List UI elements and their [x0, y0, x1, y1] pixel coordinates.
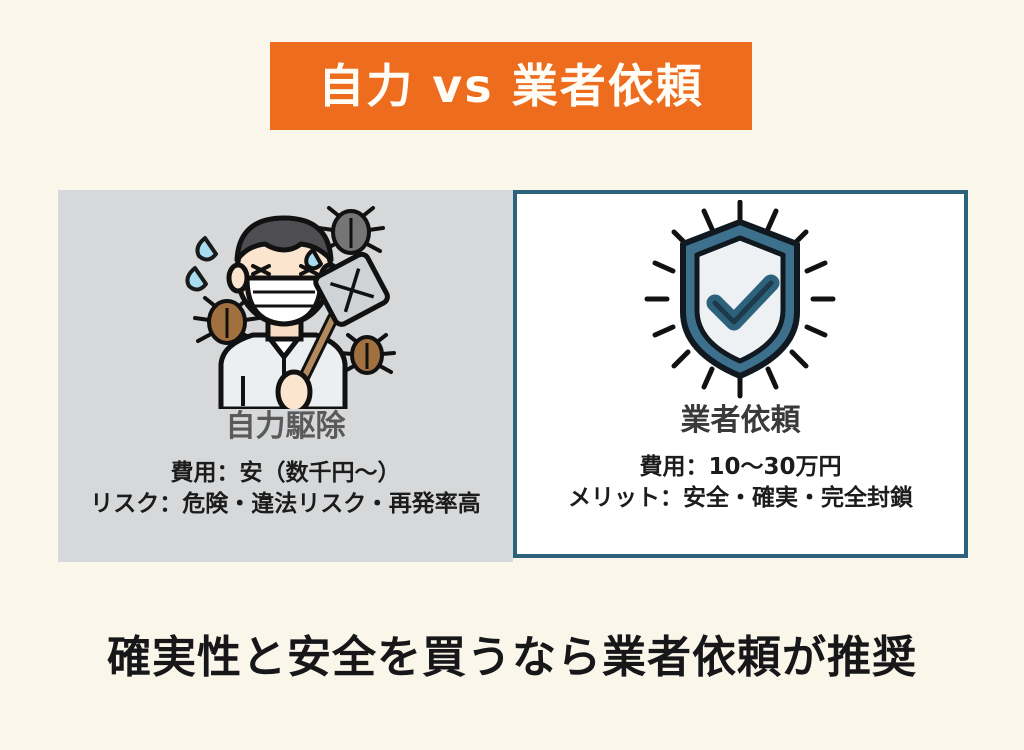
diy-risk-line: リスク：危険・違法リスク・再発率高 [90, 489, 481, 520]
comparison-card-diy: 自力駆除 費用：安（数千円〜） リスク：危険・違法リスク・再発率高 [58, 190, 513, 562]
diy-title: 自力駆除 [226, 412, 346, 442]
worried-person-with-mask-and-fly-swatter-icon [161, 194, 411, 409]
professional-title: 業者依頼 [681, 406, 801, 436]
diy-cost-line: 費用：安（数千円〜） [171, 458, 401, 489]
professional-cost-line: 費用：10〜30万円 [639, 452, 841, 483]
shield-check-icon [633, 200, 848, 400]
summary-caption-text: 確実性と安全を買うなら業者依頼が推奨 [107, 632, 917, 683]
professional-illustration [517, 194, 964, 406]
comparison-card-professional: 業者依頼 費用：10〜30万円 メリット：安全・確実・完全封鎖 [513, 190, 968, 558]
professional-merit-line: メリット：安全・確実・完全封鎖 [568, 483, 913, 514]
infographic-slide: 自力 vs 業者依頼 [0, 0, 1024, 750]
summary-caption: 確実性と安全を買うなら業者依頼が推奨 [0, 636, 1024, 680]
diy-illustration [58, 190, 513, 412]
comparison-panels: 自力駆除 費用：安（数千円〜） リスク：危険・違法リスク・再発率高 [58, 190, 968, 562]
title-banner: 自力 vs 業者依頼 [270, 42, 752, 130]
page-title: 自力 vs 業者依頼 [318, 63, 703, 109]
